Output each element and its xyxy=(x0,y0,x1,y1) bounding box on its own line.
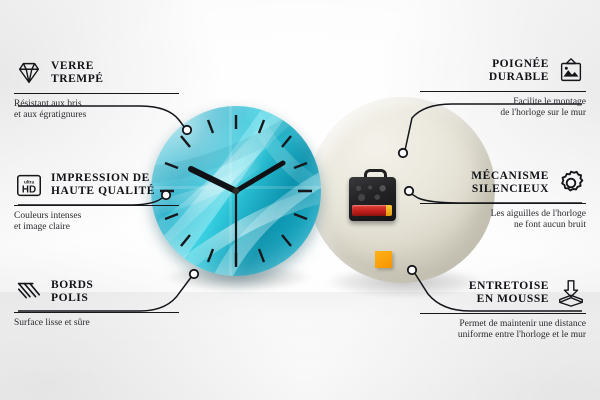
diamond-icon xyxy=(14,58,44,88)
feature-mecanisme-silencieux: MÉCANISME SILENCIEUX Les aiguilles de l'… xyxy=(420,168,586,232)
feature-desc-line2: ne font aucun bruit xyxy=(420,220,586,231)
divider xyxy=(420,313,586,314)
feature-header: POIGNÉE DURABLE xyxy=(420,56,586,86)
feature-verre-trempe: VERRE TREMPÉ Résistant aux bris et aux é… xyxy=(14,58,179,122)
feature-header: BORDS POLIS xyxy=(14,277,179,307)
feature-desc-line1: Les aiguilles de l'horloge xyxy=(420,209,586,220)
divider xyxy=(420,91,586,92)
anchor-dot-verre xyxy=(183,126,191,134)
feature-header: MÉCANISME SILENCIEUX xyxy=(420,168,586,198)
svg-text:HD: HD xyxy=(22,185,36,196)
polished-edges-icon xyxy=(14,277,44,307)
anchor-dot-entretoise xyxy=(408,266,416,274)
anchor-dot-poignee xyxy=(399,149,407,157)
anchor-dot-bords xyxy=(190,270,198,278)
feature-desc-line1: Couleurs intenses xyxy=(14,211,179,222)
anchor-dot-mecanisme xyxy=(405,187,413,195)
feature-poignee-durable: POIGNÉE DURABLE Facilite le montage de l… xyxy=(420,56,586,120)
divider xyxy=(14,312,179,313)
feature-header: ENTRETOISE EN MOUSSE xyxy=(420,278,586,308)
feature-entretoise-en-mousse: ENTRETOISE EN MOUSSE Permet de maintenir… xyxy=(420,278,586,342)
feature-title: ENTRETOISE EN MOUSSE xyxy=(469,280,549,306)
feature-header: ultra HD IMPRESSION DE HAUTE QUALITÉ xyxy=(14,170,179,200)
feature-desc-line1: Facilite le montage xyxy=(420,97,586,108)
feature-bords-polis: BORDS POLIS Surface lisse et sûre xyxy=(14,277,179,329)
feature-desc-line1: Surface lisse et sûre xyxy=(14,318,179,329)
divider xyxy=(420,203,586,204)
divider xyxy=(14,93,179,94)
feature-title: IMPRESSION DE HAUTE QUALITÉ xyxy=(51,172,155,198)
feature-desc-line1: Résistant aux bris xyxy=(14,99,179,110)
feature-title: BORDS POLIS xyxy=(51,279,93,305)
feature-desc-line2: de l'horloge sur le mur xyxy=(420,108,586,119)
feature-title: VERRE TREMPÉ xyxy=(51,60,104,86)
feature-impression-haute-qualite: ultra HD IMPRESSION DE HAUTE QUALITÉ Cou… xyxy=(14,170,179,234)
feature-title: POIGNÉE DURABLE xyxy=(489,58,549,84)
feature-desc-line2: et aux égratignures xyxy=(14,110,179,121)
feature-header: VERRE TREMPÉ xyxy=(14,58,179,88)
infographic-canvas: VERRE TREMPÉ Résistant aux bris et aux é… xyxy=(0,0,600,400)
feature-desc-line1: Permet de maintenir une distance xyxy=(420,319,586,330)
divider xyxy=(14,205,179,206)
ultra-hd-icon: ultra HD xyxy=(14,170,44,200)
gear-icon xyxy=(556,168,586,198)
foam-spacer-icon xyxy=(556,278,586,308)
feature-desc-line2: et image claire xyxy=(14,222,179,233)
feature-title: MÉCANISME SILENCIEUX xyxy=(471,170,549,196)
feature-desc-line2: uniforme entre l'horloge et le mur xyxy=(420,330,586,341)
picture-hanger-icon xyxy=(556,56,586,86)
